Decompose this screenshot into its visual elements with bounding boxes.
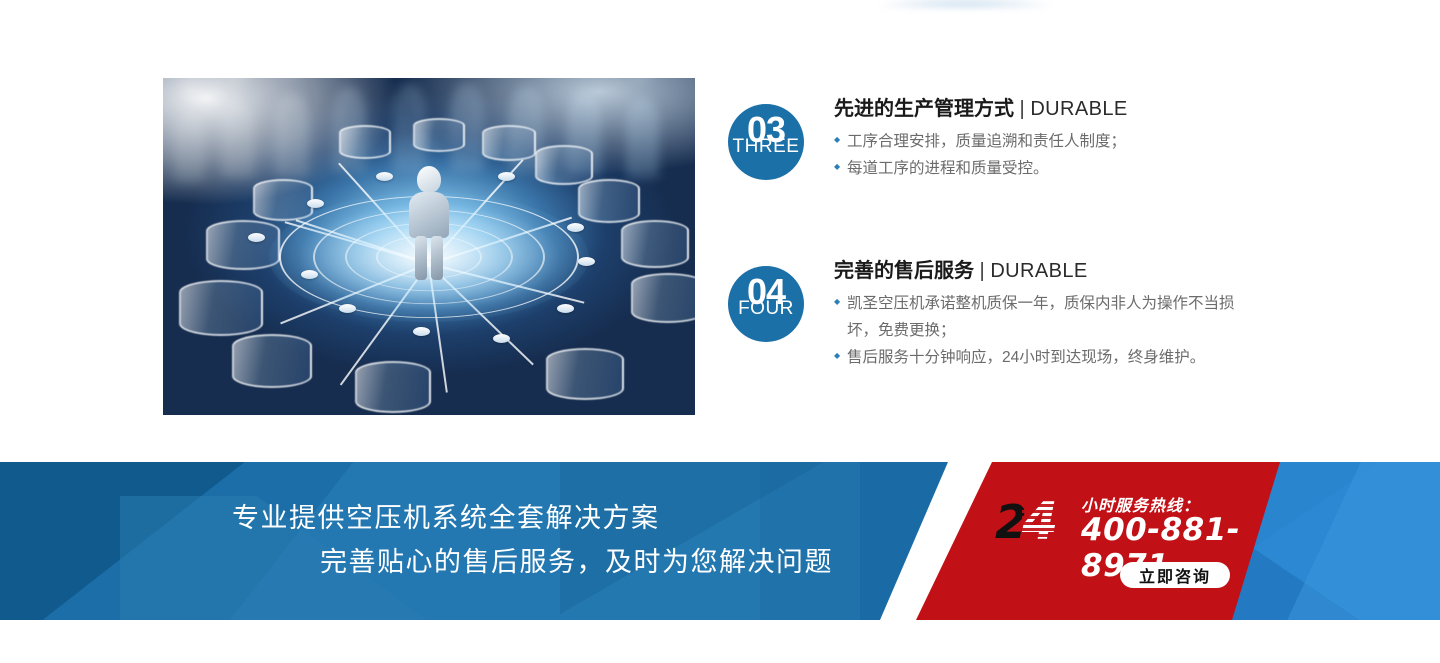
bottom-cta-banner: 专业提供空压机系统全套解决方案 完善贴心的售后服务，及时为您解决问题 2 4 小… [0, 462, 1440, 620]
feature-text-block: 完善的售后服务 | DURABLE 凯圣空压机承诺整机质保一年，质保内非人为操作… [834, 258, 1246, 371]
feature-badge-04: 04 FOUR [728, 266, 804, 342]
badge-word: THREE [728, 137, 804, 156]
hotline-hours-digit-4: 4 [1022, 496, 1058, 548]
feature-bullet-list: 工序合理安排，质量追溯和责任人制度； 每道工序的进程和质量受控。 [834, 129, 1128, 182]
slogan-line-1: 专业提供空压机系统全套解决方案 [232, 497, 872, 541]
feature-bullet: 工序合理安排，质量追溯和责任人制度； [834, 129, 1128, 156]
feature-title-separator: | [1014, 98, 1030, 120]
feature-title: 完善的售后服务 | DURABLE [834, 258, 1246, 284]
feature-bullet: 凯圣空压机承诺整机质保一年，质保内非人为操作不当损坏，免费更换； [834, 291, 1246, 344]
feature-title-cn: 完善的售后服务 [834, 260, 974, 282]
network-illustration-photo [163, 78, 695, 415]
hotline-group: 2 4 小时服务热线： 400-881-8971 立即咨询 [995, 490, 1295, 598]
feature-item-04: 04 FOUR 完善的售后服务 | DURABLE 凯圣空压机承诺整机质保一年，… [728, 258, 1288, 371]
feature-title-en: DURABLE [990, 260, 1087, 282]
slogan-line-2: 完善贴心的售后服务，及时为您解决问题 [232, 541, 872, 585]
feature-bullet: 每道工序的进程和质量受控。 [834, 156, 1128, 183]
feature-bullet-list: 凯圣空压机承诺整机质保一年，质保内非人为操作不当损坏，免费更换； 售后服务十分钟… [834, 291, 1246, 371]
feature-title: 先进的生产管理方式 | DURABLE [834, 96, 1128, 122]
consult-now-button[interactable]: 立即咨询 [1120, 562, 1230, 588]
upper-content-area: 03 THREE 先进的生产管理方式 | DURABLE 工序合理安排，质量追溯… [0, 0, 1440, 462]
feature-title-en: DURABLE [1030, 98, 1127, 120]
banner-slogan: 专业提供空压机系统全套解决方案 完善贴心的售后服务，及时为您解决问题 [232, 462, 872, 620]
feature-title-separator: | [974, 260, 990, 282]
feature-list: 03 THREE 先进的生产管理方式 | DURABLE 工序合理安排，质量追溯… [728, 96, 1288, 371]
feature-bullet: 售后服务十分钟响应，24小时到达现场，终身维护。 [834, 345, 1246, 372]
feature-text-block: 先进的生产管理方式 | DURABLE 工序合理安排，质量追溯和责任人制度； 每… [834, 96, 1128, 182]
badge-word: FOUR [728, 299, 804, 318]
photo-haze-overlay [163, 78, 695, 415]
feature-item-03: 03 THREE 先进的生产管理方式 | DURABLE 工序合理安排，质量追溯… [728, 96, 1288, 182]
feature-title-cn: 先进的生产管理方式 [834, 98, 1014, 120]
twenty-four-hours-graphic: 2 4 [995, 496, 1075, 548]
feature-badge-03: 03 THREE [728, 104, 804, 180]
